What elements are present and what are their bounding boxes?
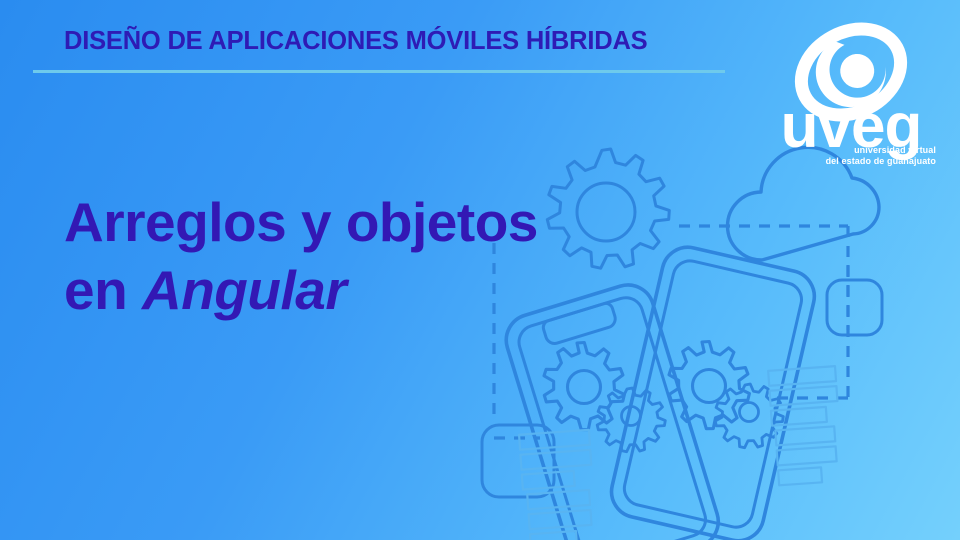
uveg-tagline-line-1: universidad virtual — [854, 145, 936, 155]
gear-small-icon — [715, 384, 783, 448]
rounded-square-left-icon — [482, 425, 554, 497]
gear-medium-icon — [669, 342, 749, 429]
title-line-1: Arreglos y objetos — [64, 188, 684, 256]
gear-small-icon — [597, 388, 665, 452]
rounded-square-right-icon — [827, 280, 882, 335]
title-line-2-prefix: en — [64, 259, 142, 321]
gear-medium-icon — [544, 343, 624, 430]
header-divider — [33, 70, 725, 73]
uveg-tagline-line-2: del estado de guanajuato — [826, 156, 936, 166]
presentation-slide: DISEÑO DE APLICACIONES MÓVILES HÍBRIDAS … — [0, 0, 960, 540]
list-bars-right — [768, 366, 843, 485]
title-line-2: en Angular — [64, 256, 684, 324]
uveg-logo: uveg universidad virtual del estado de g… — [756, 14, 946, 174]
list-bars-left — [519, 430, 597, 540]
slide-title: Arreglos y objetos en Angular — [64, 188, 684, 324]
course-title: DISEÑO DE APLICACIONES MÓVILES HÍBRIDAS — [64, 27, 647, 56]
title-line-2-emphasis: Angular — [142, 259, 346, 321]
title-line-1-text: Arreglos y objetos — [64, 191, 538, 253]
